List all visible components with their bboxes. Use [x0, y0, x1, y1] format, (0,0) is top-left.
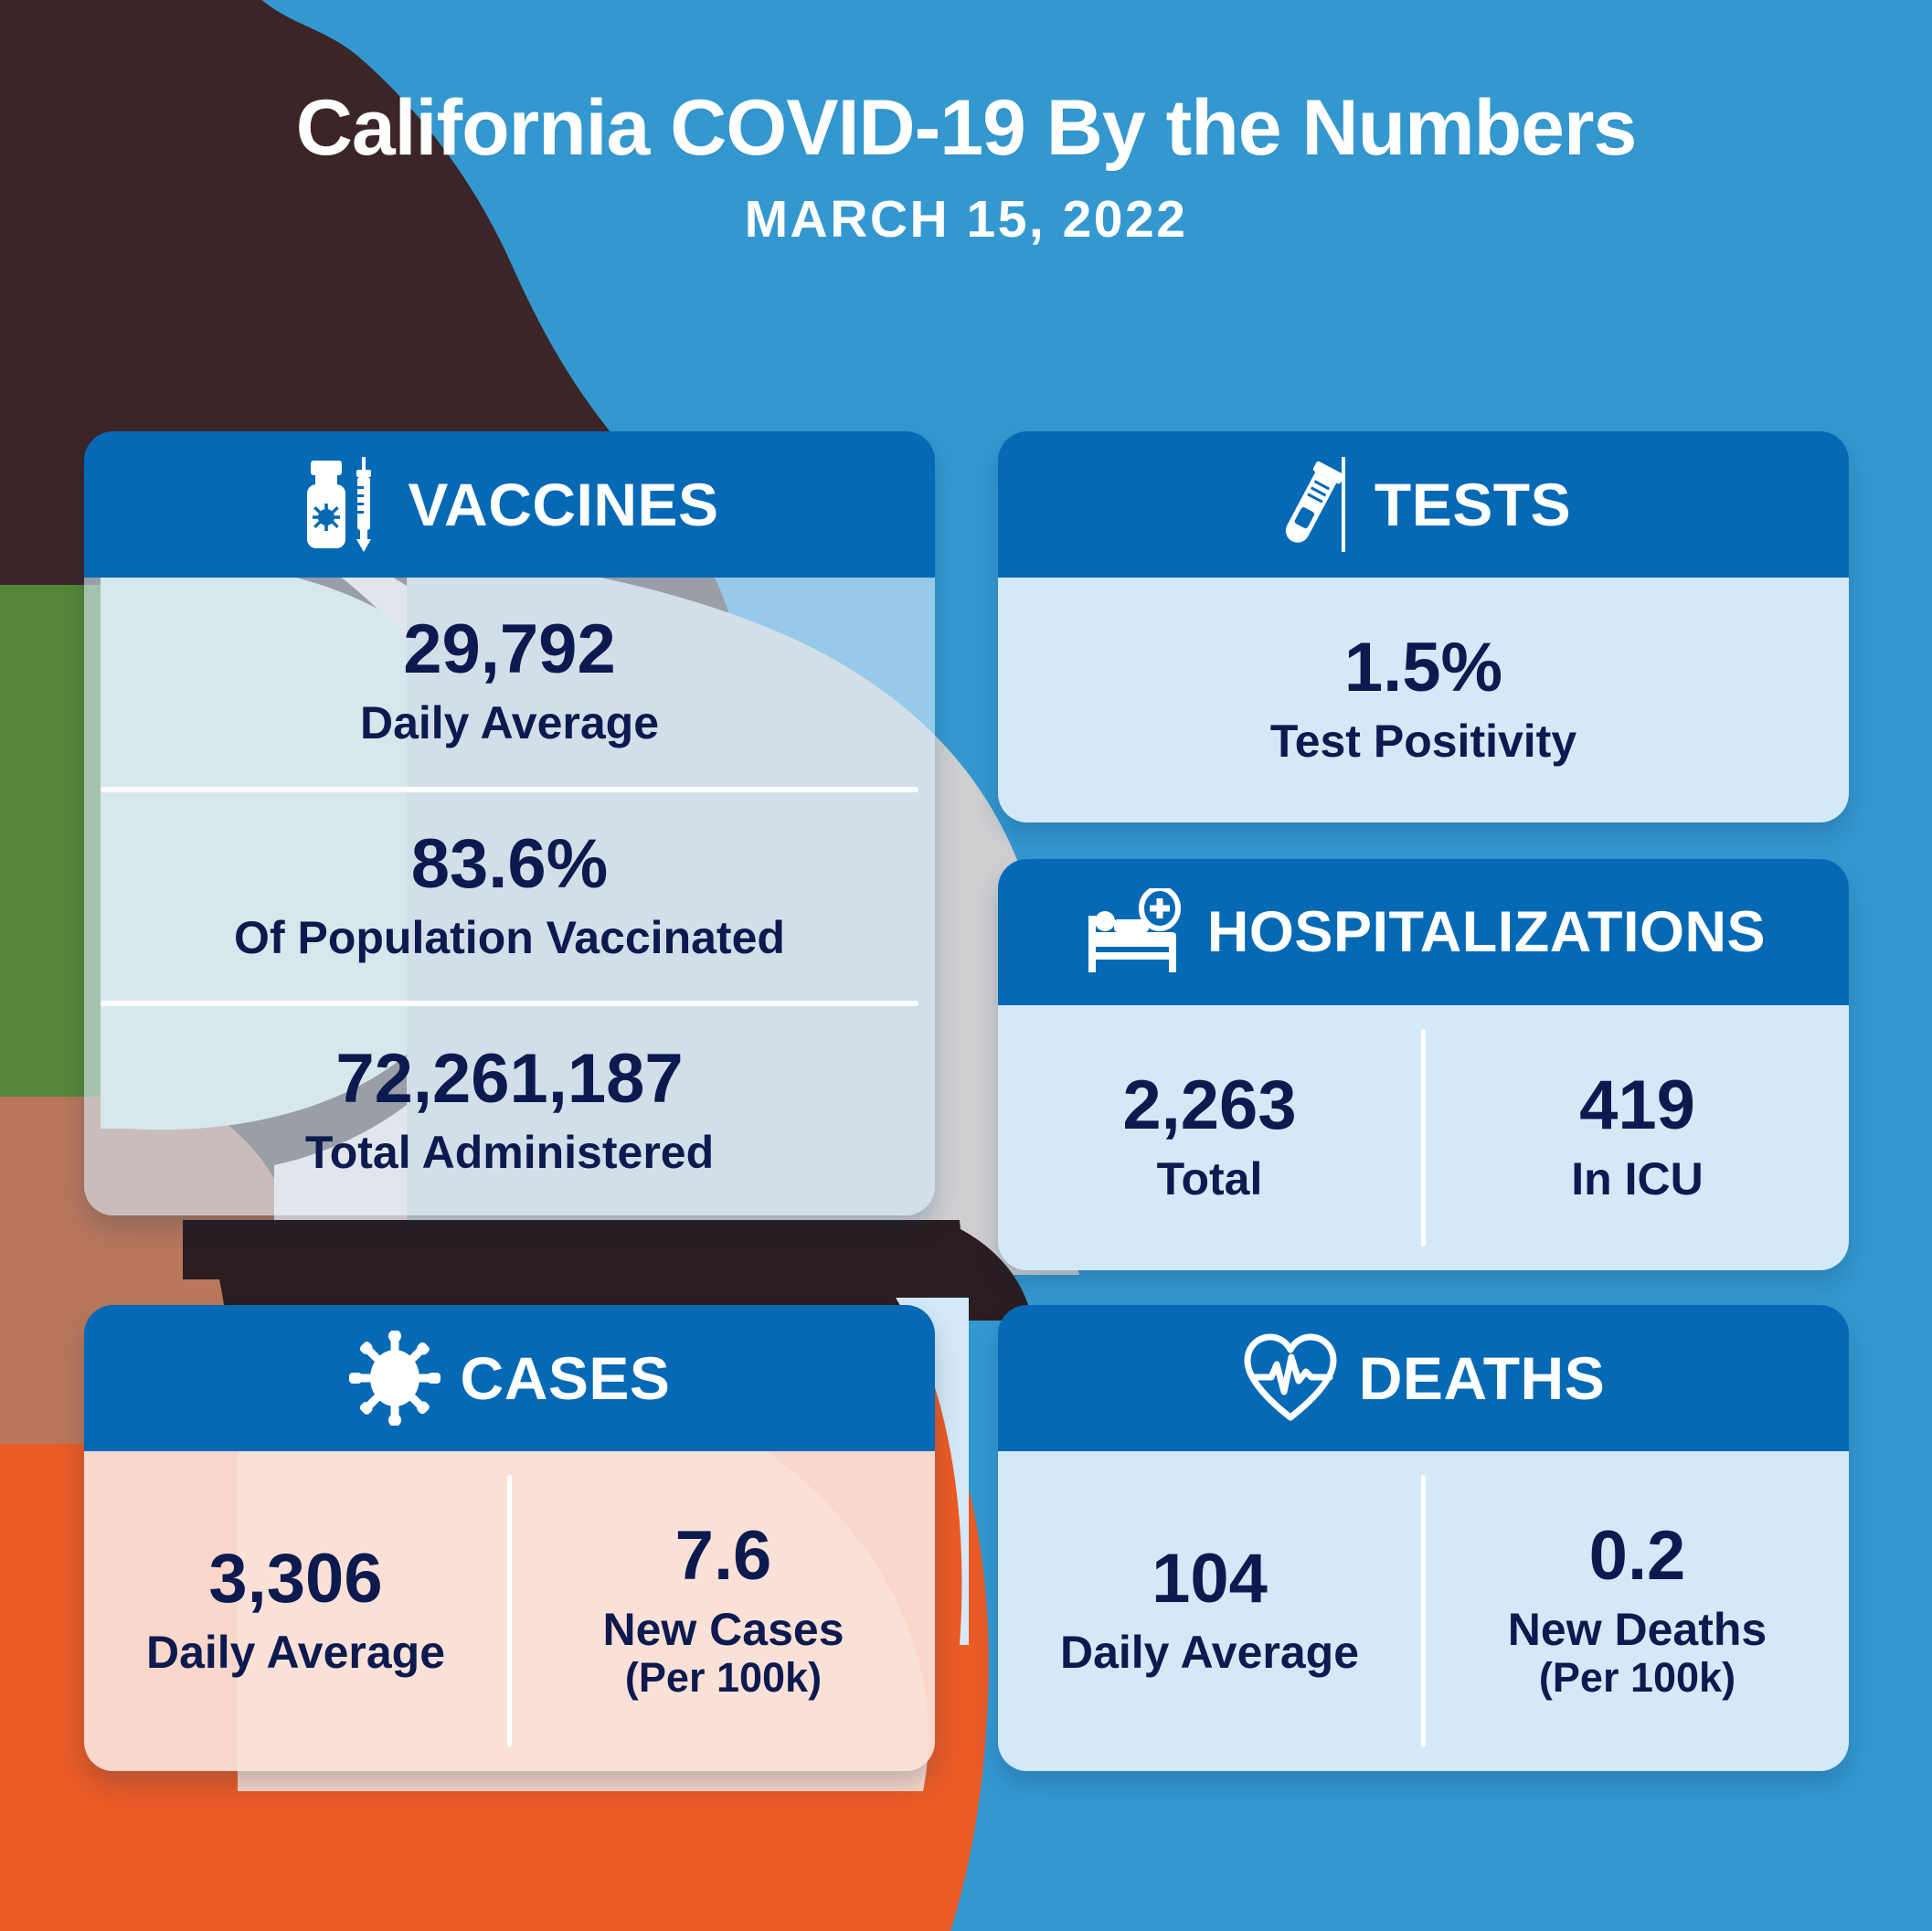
card-tests-header: TESTS	[998, 431, 1849, 578]
stat-deaths-daily-average: 104 Daily Average	[998, 1451, 1421, 1771]
stat-label: New Deaths	[1508, 1604, 1767, 1655]
card-hospitalizations-title: HOSPITALIZATIONS	[1207, 899, 1766, 965]
stat-deaths-new-per-100k: 0.2 New Deaths (Per 100k)	[1426, 1451, 1849, 1771]
heart-pulse-icon	[1242, 1333, 1339, 1423]
stat-label: Test Positivity	[1270, 716, 1576, 767]
card-vaccines: VACCINES 29,792 Daily Average 83.6% Of P…	[84, 431, 935, 1215]
stat-hospitalizations-total: 2,263 Total	[998, 1005, 1421, 1270]
stat-label: Daily Average	[146, 1627, 445, 1678]
stat-vaccines-population-vaccinated: 83.6% Of Population Vaccinated	[84, 792, 935, 1002]
stat-cases-daily-average: 3,306 Daily Average	[84, 1451, 507, 1771]
stat-label: New Cases	[602, 1604, 844, 1655]
stat-hospitalizations-icu: 419 In ICU	[1426, 1005, 1849, 1270]
card-tests: TESTS 1.5% Test Positivity	[998, 431, 1849, 822]
stat-value: 7.6	[675, 1522, 772, 1591]
stat-label: Of Population Vaccinated	[234, 912, 785, 963]
card-deaths-title: DEATHS	[1359, 1343, 1605, 1413]
card-cases-header: CASES	[84, 1305, 935, 1451]
stat-value: 0.2	[1589, 1522, 1686, 1591]
stat-sublabel: (Per 100k)	[625, 1655, 822, 1701]
stat-sublabel: (Per 100k)	[1539, 1655, 1736, 1701]
page-subtitle-date: MARCH 15, 2022	[0, 189, 1932, 249]
card-cases-title: CASES	[461, 1343, 671, 1413]
page-title: California COVID-19 By the Numbers	[0, 87, 1932, 169]
stat-label: Daily Average	[1060, 1627, 1359, 1678]
stat-value: 72,261,187	[335, 1045, 683, 1114]
card-deaths: DEATHS 104 Daily Average 0.2 New Deaths …	[998, 1305, 1849, 1771]
card-hospitalizations-body: 2,263 Total 419 In ICU	[998, 1005, 1849, 1270]
stat-value: 3,306	[208, 1544, 382, 1614]
card-deaths-header: DEATHS	[998, 1305, 1849, 1451]
stat-value: 29,792	[403, 615, 615, 684]
test-tube-icon	[1276, 457, 1354, 552]
infographic-canvas: California COVID-19 By the Numbers MARCH…	[0, 0, 1932, 1931]
stat-label: Total	[1157, 1153, 1263, 1204]
stat-value: 1.5%	[1344, 633, 1502, 703]
card-hospitalizations-header: HOSPITALIZATIONS	[998, 859, 1849, 1005]
stat-label: Daily Average	[360, 697, 659, 748]
card-vaccines-header: VACCINES	[84, 431, 935, 578]
stat-label: In ICU	[1571, 1153, 1703, 1204]
stat-vaccines-daily-average: 29,792 Daily Average	[84, 578, 935, 787]
card-hospitalizations: HOSPITALIZATIONS 2,263 Total 419 In ICU	[998, 859, 1849, 1270]
vaccine-vial-syringe-icon	[300, 457, 387, 552]
header: California COVID-19 By the Numbers MARCH…	[0, 87, 1932, 249]
card-tests-title: TESTS	[1375, 470, 1571, 539]
stat-value: 2,263	[1122, 1071, 1296, 1141]
stat-value: 419	[1579, 1071, 1695, 1141]
stat-tests-positivity: 1.5% Test Positivity	[998, 578, 1849, 822]
stat-value: 83.6%	[411, 830, 609, 899]
stat-value: 104	[1152, 1544, 1268, 1614]
coronavirus-icon	[349, 1331, 441, 1426]
card-vaccines-body: 29,792 Daily Average 83.6% Of Population…	[84, 578, 935, 1215]
card-deaths-body: 104 Daily Average 0.2 New Deaths (Per 10…	[998, 1451, 1849, 1771]
stat-label: Total Administered	[305, 1127, 714, 1178]
card-vaccines-title: VACCINES	[408, 470, 718, 539]
stat-cases-new-per-100k: 7.6 New Cases (Per 100k)	[512, 1451, 935, 1771]
card-cases-body: 3,306 Daily Average 7.6 New Cases (Per 1…	[84, 1451, 935, 1771]
card-tests-body: 1.5% Test Positivity	[998, 578, 1849, 822]
card-cases: CASES 3,306 Daily Average 7.6 New Cases …	[84, 1305, 935, 1771]
hospital-bed-icon	[1081, 888, 1187, 976]
stat-vaccines-total-administered: 72,261,187 Total Administered	[84, 1006, 935, 1215]
